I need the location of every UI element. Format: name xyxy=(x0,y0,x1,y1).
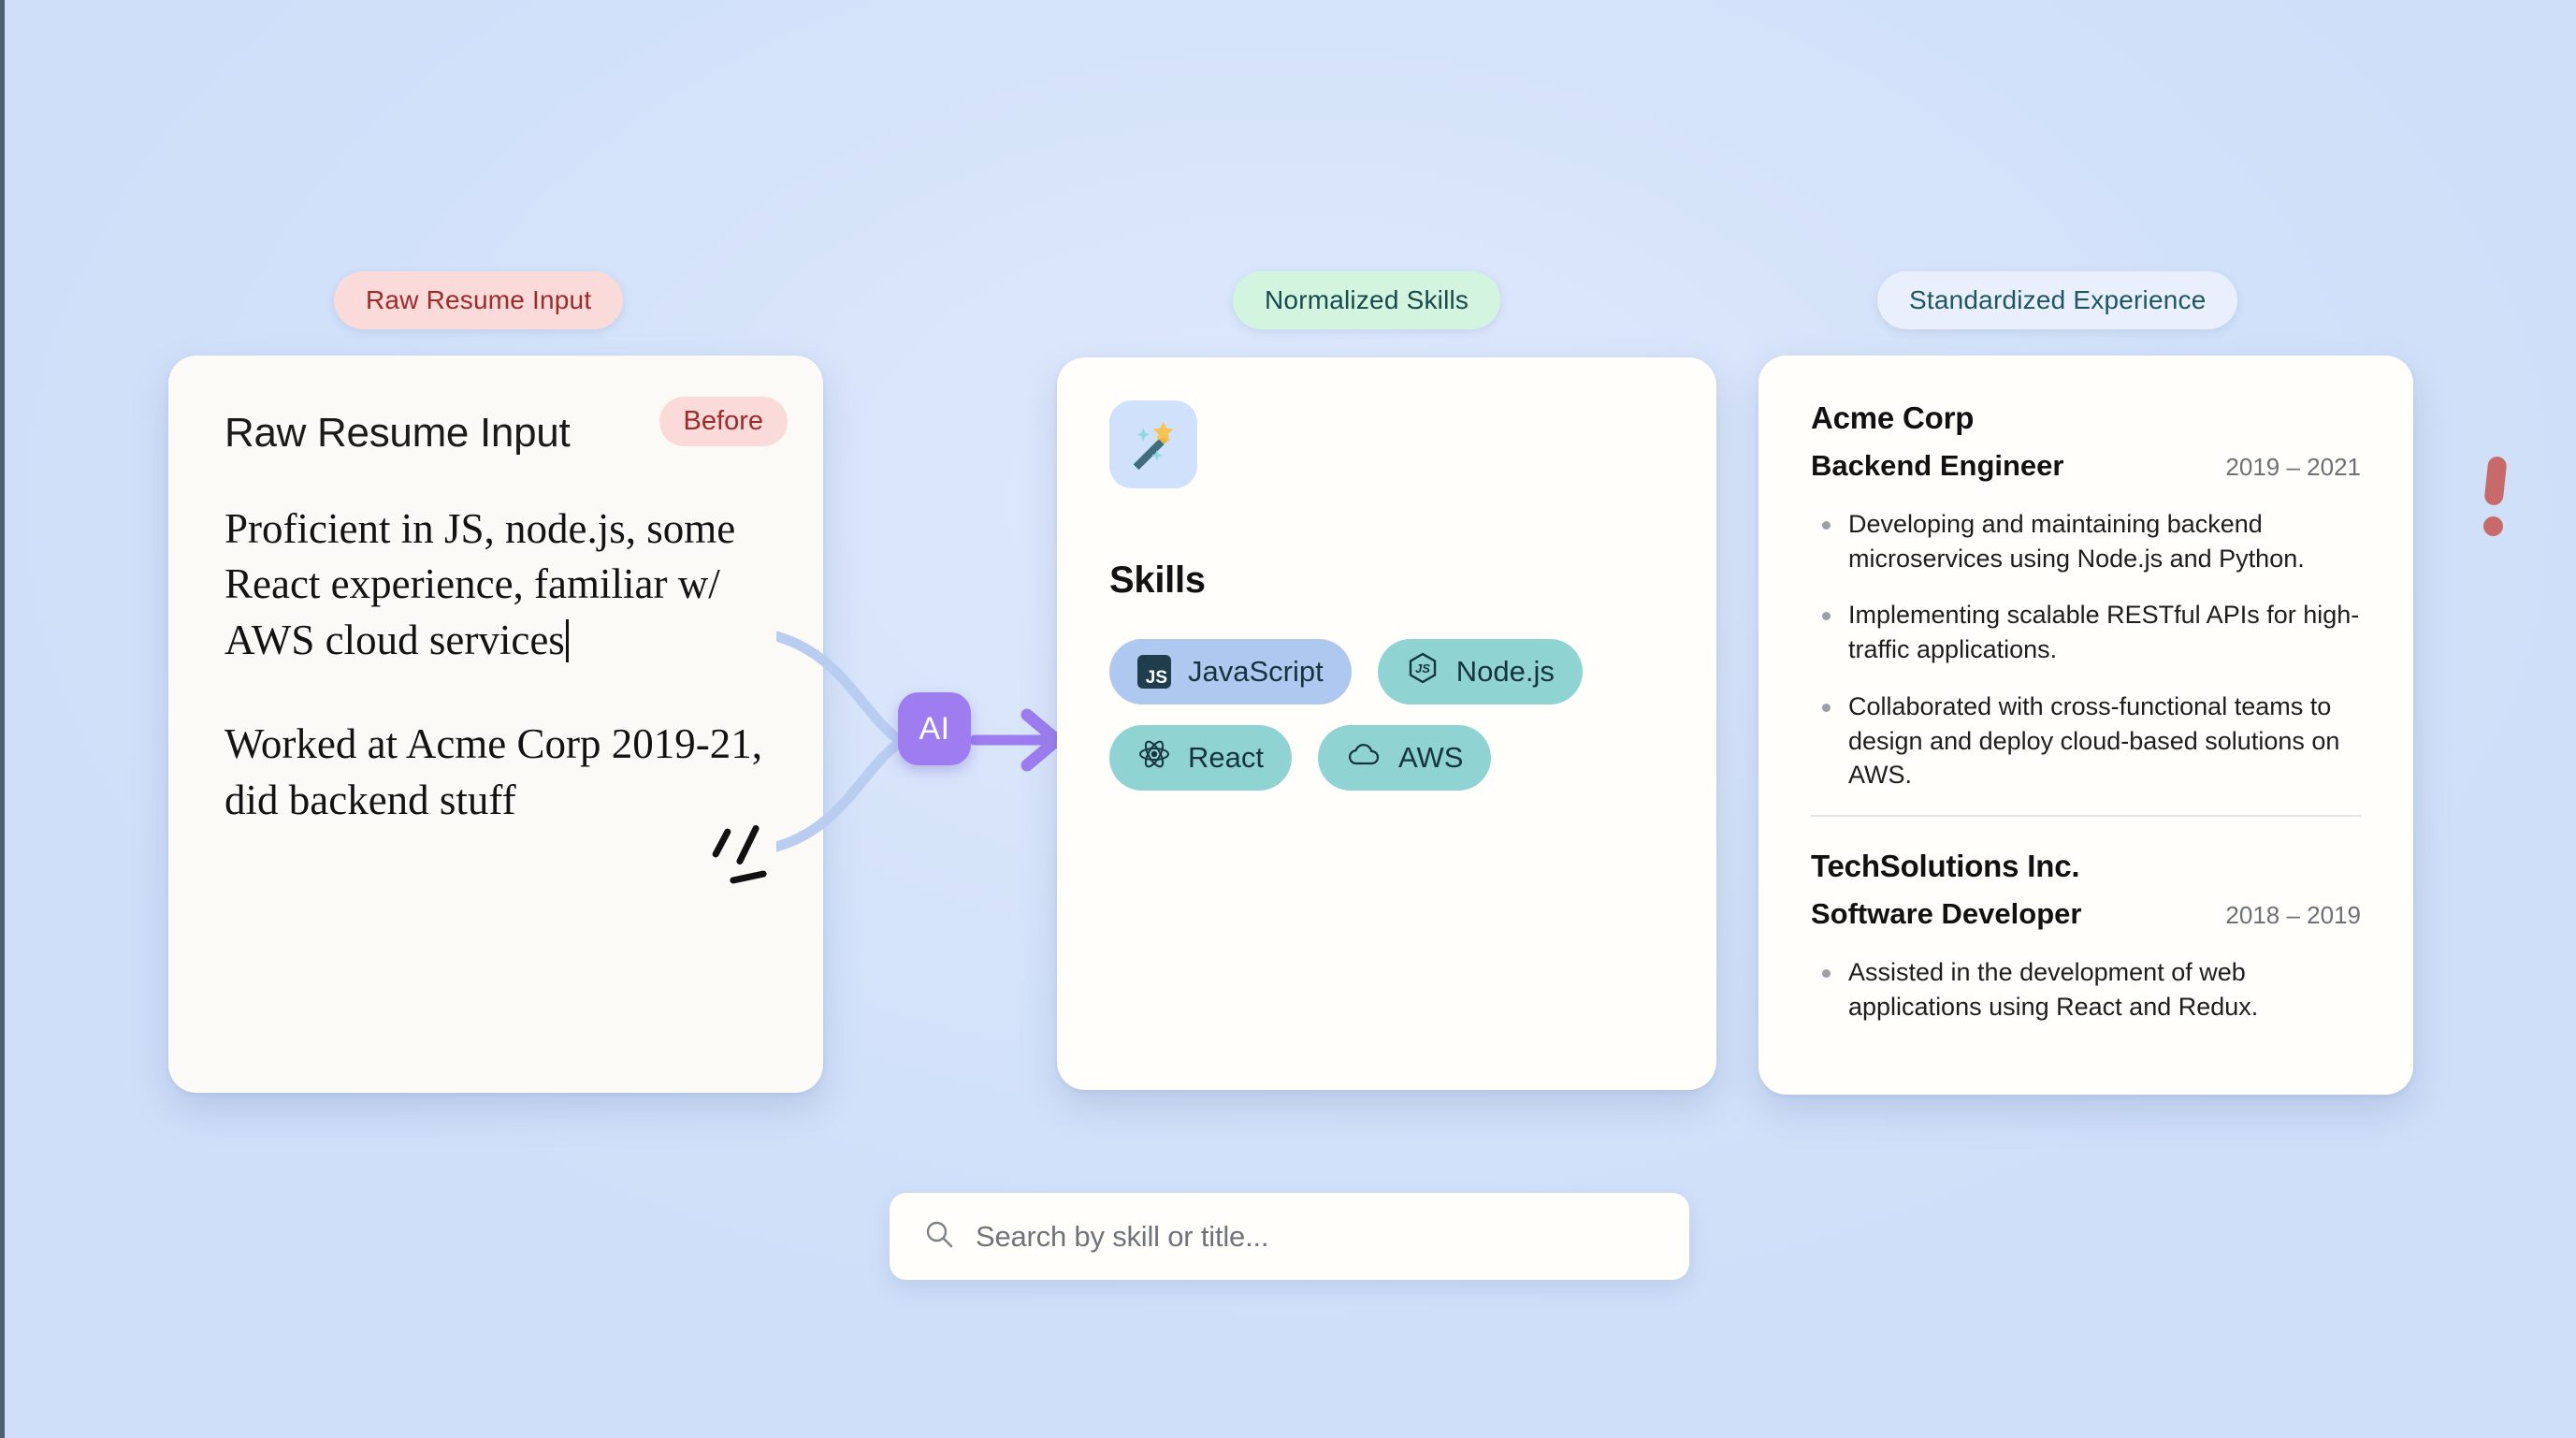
raw-resume-body[interactable]: Proficient in JS, node.js, some React ex… xyxy=(224,501,767,828)
skill-chip-label: React xyxy=(1188,741,1264,775)
text-caret xyxy=(566,619,569,662)
experience-role: Backend Engineer xyxy=(1811,449,2063,483)
skill-chip-label: JavaScript xyxy=(1188,655,1324,689)
list-item: Implementing scalable RESTful APIs for h… xyxy=(1811,598,2361,666)
left-edge-strip xyxy=(0,0,5,1438)
experience-bullet-list: Assisted in the development of web appli… xyxy=(1811,955,2361,1024)
emphasis-slashes-icon xyxy=(709,823,793,898)
exclamation-mark-icon xyxy=(2486,457,2507,536)
skill-chip-aws[interactable]: AWS xyxy=(1318,725,1491,791)
experience-company: TechSolutions Inc. xyxy=(1811,849,2361,884)
experience-entry: Acme Corp Backend Engineer 2019 – 2021 D… xyxy=(1811,400,2361,792)
list-item: Assisted in the development of web appli… xyxy=(1811,955,2361,1024)
experience-bullet-list: Developing and maintaining backend micro… xyxy=(1811,507,2361,792)
before-badge: Before xyxy=(659,397,788,446)
nodejs-hexagon-icon: JS xyxy=(1406,651,1440,692)
js-badge-icon: JS xyxy=(1137,655,1171,689)
experience-role: Software Developer xyxy=(1811,897,2081,931)
svg-text:JS: JS xyxy=(1415,661,1430,675)
raw-paragraph-2: Worked at Acme Corp 2019-21, did backend… xyxy=(224,717,767,828)
search-input[interactable]: Search by skill or title... xyxy=(976,1220,1268,1254)
search-bar[interactable]: Search by skill or title... xyxy=(890,1193,1689,1280)
react-atom-icon xyxy=(1137,737,1171,778)
list-item: Collaborated with cross-functional teams… xyxy=(1811,690,2361,792)
raw-paragraph-1: Proficient in JS, node.js, some React ex… xyxy=(224,501,767,668)
skill-chip-label: Node.js xyxy=(1456,655,1555,689)
skill-chip-list: JS JavaScript JS Node.js React xyxy=(1109,639,1652,791)
normalized-skills-card: Skills JS JavaScript JS Node.js xyxy=(1057,357,1716,1090)
search-icon xyxy=(923,1218,955,1255)
experience-company: Acme Corp xyxy=(1811,400,2361,436)
skill-chip-label: AWS xyxy=(1398,741,1463,775)
cloud-icon xyxy=(1346,740,1382,776)
skill-chip-nodejs[interactable]: JS Node.js xyxy=(1378,639,1583,704)
skill-chip-react[interactable]: React xyxy=(1109,725,1292,791)
skills-heading: Skills xyxy=(1109,559,1664,602)
experience-entry: TechSolutions Inc. Software Developer 20… xyxy=(1811,849,2361,1024)
pill-raw-resume-input: Raw Resume Input xyxy=(334,271,623,329)
magic-wand-icon xyxy=(1109,400,1197,488)
experience-divider xyxy=(1811,815,2361,817)
pill-normalized-skills: Normalized Skills xyxy=(1233,271,1500,329)
skill-chip-javascript[interactable]: JS JavaScript xyxy=(1109,639,1352,704)
experience-dates: 2019 – 2021 xyxy=(2225,453,2361,482)
raw-resume-card: Before Raw Resume Input Proficient in JS… xyxy=(168,356,823,1093)
experience-dates: 2018 – 2019 xyxy=(2225,901,2361,930)
ai-badge[interactable]: AI xyxy=(898,692,971,765)
list-item: Developing and maintaining backend micro… xyxy=(1811,507,2361,575)
standardized-experience-card: Acme Corp Backend Engineer 2019 – 2021 D… xyxy=(1758,356,2413,1095)
pill-standardized-experience: Standardized Experience xyxy=(1877,271,2237,329)
